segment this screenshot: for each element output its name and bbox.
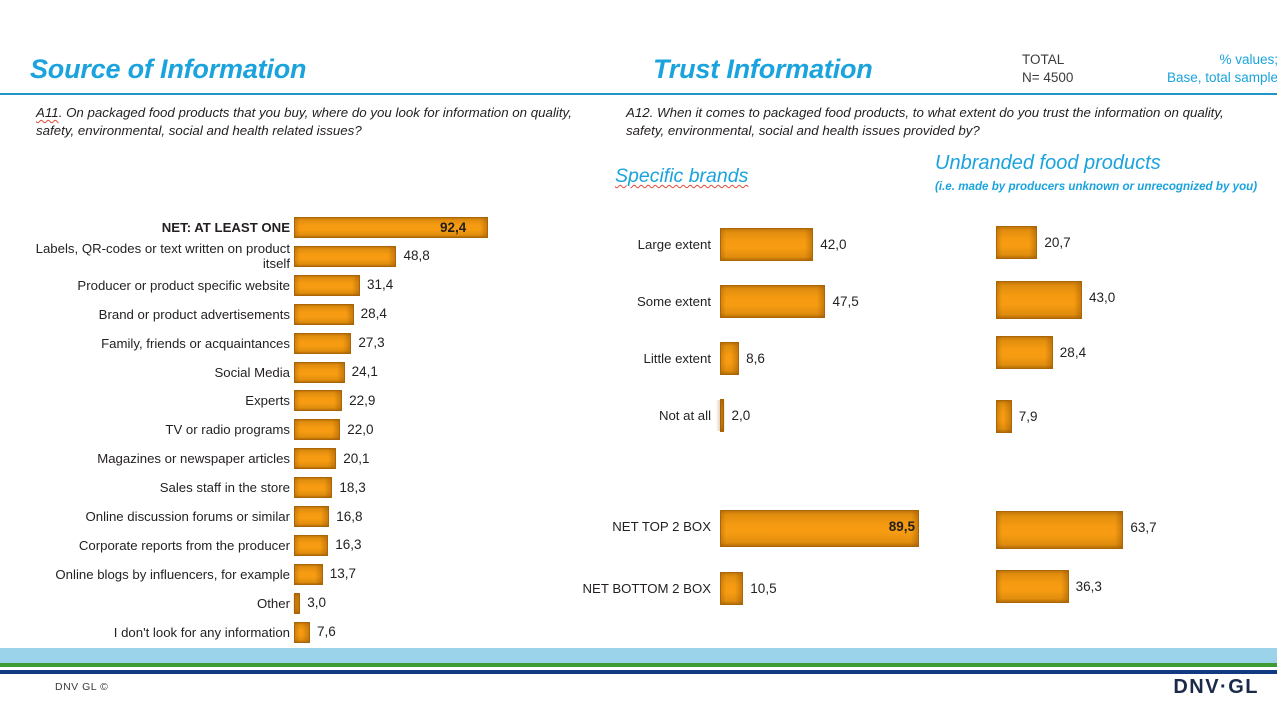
- category-label: Some extent: [560, 294, 711, 309]
- category-label: Online blogs by influencers, for example: [20, 567, 290, 582]
- bar: [996, 226, 1037, 259]
- category-label: Producer or product specific website: [20, 278, 290, 293]
- bar: [720, 342, 739, 375]
- header-divider: [0, 93, 1277, 95]
- value-label: 22,0: [347, 422, 373, 437]
- page-title-left: Source of Information: [30, 54, 306, 85]
- category-label: TV or radio programs: [20, 422, 290, 437]
- value-label: 24,1: [352, 364, 378, 379]
- category-label: Labels, QR-codes or text written on prod…: [20, 241, 290, 271]
- value-label: 89,5: [889, 519, 915, 534]
- value-label: 2,0: [731, 408, 750, 423]
- question-text-left: A11. On packaged food products that you …: [36, 104, 601, 139]
- value-label: 43,0: [1089, 290, 1115, 305]
- category-label: Corporate reports from the producer: [20, 538, 290, 553]
- category-label: Family, friends or acquaintances: [20, 336, 290, 351]
- bar: [294, 535, 328, 556]
- bar: [720, 399, 724, 432]
- bar: [294, 477, 332, 498]
- bar: [996, 511, 1123, 549]
- bar: [294, 275, 360, 296]
- bar: [996, 400, 1012, 433]
- value-label: 63,7: [1130, 520, 1156, 535]
- value-label: 28,4: [1060, 345, 1086, 360]
- footer-band-lightblue: [0, 648, 1277, 663]
- subhead-unbranded-note: (i.e. made by producers unknown or unrec…: [935, 180, 1270, 194]
- bar: [996, 570, 1069, 603]
- category-label: Not at all: [560, 408, 711, 423]
- bar: [294, 246, 396, 267]
- question-body-a11: . On packaged food products that you buy…: [36, 105, 572, 138]
- slide-canvas: Source of Information Trust Information …: [0, 0, 1277, 715]
- percent-values-label: % values;: [1100, 51, 1277, 69]
- category-label: Little extent: [560, 351, 711, 366]
- category-label: NET BOTTOM 2 BOX: [560, 581, 711, 596]
- bar: [294, 333, 351, 354]
- bar: [996, 281, 1082, 319]
- category-label: I don't look for any information: [20, 625, 290, 640]
- footer-band-darkblue: [0, 670, 1277, 674]
- value-label: 8,6: [746, 351, 765, 366]
- footer-logo: DNV·GL: [1173, 676, 1259, 699]
- value-label: 47,5: [832, 294, 858, 309]
- question-code-a11: A11: [36, 105, 59, 120]
- category-label: Brand or product advertisements: [20, 307, 290, 322]
- category-label: NET TOP 2 BOX: [560, 519, 711, 534]
- base-block: % values; Base, total sample: [1100, 51, 1277, 87]
- category-label: Experts: [20, 393, 290, 408]
- category-label: NET: AT LEAST ONE: [20, 220, 290, 235]
- value-label: 16,3: [335, 537, 361, 552]
- bar: [720, 228, 813, 261]
- value-label: 20,7: [1044, 235, 1070, 250]
- category-label: Social Media: [20, 365, 290, 380]
- value-label: 92,4: [440, 220, 466, 235]
- category-label: Sales staff in the store: [20, 480, 290, 495]
- subhead-specific-brands-text: Specific brands: [615, 165, 748, 187]
- page-title-right: Trust Information: [653, 54, 873, 85]
- bar: [720, 572, 743, 605]
- subhead-unbranded: Unbranded food products: [935, 152, 1161, 175]
- value-label: 27,3: [358, 335, 384, 350]
- bar: [996, 336, 1053, 369]
- bar: [294, 390, 342, 411]
- value-label: 10,5: [750, 581, 776, 596]
- footer-copyright: DNV GL ©: [55, 681, 108, 693]
- value-label: 36,3: [1076, 579, 1102, 594]
- value-label: 31,4: [367, 277, 393, 292]
- value-label: 48,8: [403, 248, 429, 263]
- value-label: 16,8: [336, 509, 362, 524]
- value-label: 20,1: [343, 451, 369, 466]
- question-text-right: A12. When it comes to packaged food prod…: [626, 104, 1226, 139]
- value-label: 42,0: [820, 237, 846, 252]
- value-label: 13,7: [330, 566, 356, 581]
- bar: [294, 506, 329, 527]
- base-total-sample-label: Base, total sample: [1100, 69, 1277, 87]
- bar: [294, 622, 310, 643]
- value-label: 22,9: [349, 393, 375, 408]
- subhead-specific-brands: Specific brands: [615, 165, 748, 188]
- value-label: 18,3: [339, 480, 365, 495]
- bar: [294, 593, 300, 614]
- value-label: 28,4: [361, 306, 387, 321]
- bar: [294, 564, 323, 585]
- category-label: Online discussion forums or similar: [20, 509, 290, 524]
- category-label: Magazines or newspaper articles: [20, 451, 290, 466]
- bar: [294, 304, 354, 325]
- category-label: Other: [20, 596, 290, 611]
- value-label: 3,0: [307, 595, 326, 610]
- bar: [720, 285, 825, 318]
- bar: [294, 419, 340, 440]
- bar: [294, 362, 345, 383]
- value-label: 7,6: [317, 624, 336, 639]
- value-label: 7,9: [1019, 409, 1038, 424]
- bar: [294, 448, 336, 469]
- category-label: Large extent: [560, 237, 711, 252]
